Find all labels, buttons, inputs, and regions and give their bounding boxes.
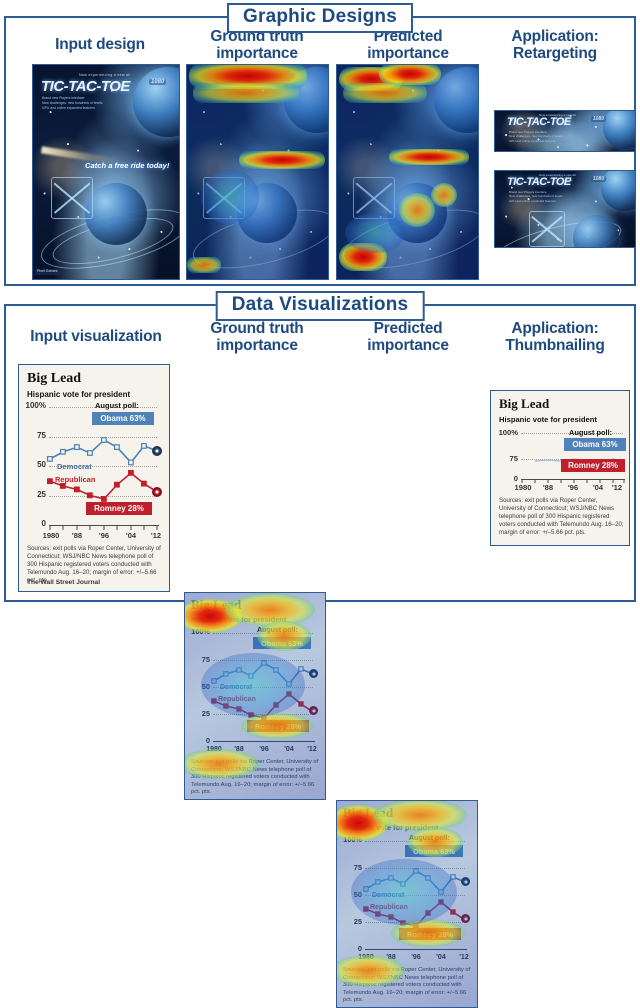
series-points-democrat [364, 869, 455, 894]
august-poll-label: August poll: [569, 428, 612, 437]
predicted-importance-map-design[interactable] [336, 64, 479, 280]
series-label-republican: Republican [218, 696, 256, 703]
series-label-democrat: Democrat [372, 892, 404, 899]
series-line-democrat [366, 871, 465, 892]
column-header-ground-truth-importance: Ground truth importance [182, 320, 332, 355]
banner-title: TIC-TAC-TOE [507, 176, 571, 188]
banner-bullet-3: GPU and online expanded features [509, 139, 563, 143]
obama-endpoint-marker [309, 669, 318, 678]
romney-callout: Romney 28% [247, 720, 309, 732]
ticks-group [50, 525, 157, 530]
romney-callout: Romney 28% [561, 459, 625, 472]
planet-foreground [85, 183, 147, 245]
august-poll-label: August poll: [409, 835, 450, 842]
chart-sources: Sources: exit polls via Roper Center, Un… [499, 497, 625, 537]
ground-truth-importance-map-design[interactable] [186, 64, 329, 280]
series-label-democrat: Democrat [220, 684, 252, 691]
column-header-line2: Retargeting [476, 45, 634, 62]
series-line-democrat [214, 663, 313, 684]
banner-bullets: Brand new Players interface New challeng… [509, 190, 563, 203]
section-title-data-visualizations: Data Visualizations [216, 291, 425, 321]
section-data-visualizations: Data Visualizations Input visualization … [4, 304, 636, 602]
retargeting-banner-wide[interactable]: Now experiencing a new all TIC-TAC-TOE 1… [494, 110, 636, 152]
chart-sources: Sources: exit polls via Roper Center, Un… [343, 967, 473, 1005]
banner-badge: 1080 [591, 176, 606, 182]
column-header-line2: importance [182, 45, 332, 62]
column-header-line2: importance [334, 45, 482, 62]
ground-truth-importance-map-chart[interactable]: Big Lead Hispanic vote for president 100… [184, 592, 326, 800]
x-tick-96: '96 [251, 746, 277, 753]
x-tick-96: '96 [90, 531, 118, 540]
obama-endpoint-marker [461, 877, 470, 886]
obama-callout: Obama 63% [405, 845, 463, 857]
input-design-poster[interactable]: Now experiencing a new all TIC-TAC-TOE 1… [32, 64, 180, 280]
column-header-line1: Ground truth [182, 320, 332, 337]
x-tick-88: '88 [535, 483, 561, 492]
poster-title: TIC-TAC-TOE [41, 78, 130, 95]
column-header-line1: Application: [476, 28, 634, 45]
banner-badge: 1080 [591, 116, 606, 122]
x-tick-88: '88 [63, 531, 91, 540]
x-tick-12: '12 [299, 746, 325, 753]
column-header-predicted-importance: Predicted importance [334, 28, 482, 63]
tic-tac-toe-x-icon [203, 177, 245, 219]
romney-callout: Romney 28% [86, 502, 152, 515]
column-header-line1: Application: [474, 320, 636, 337]
poster-bullets: Brand new Players interface New challeng… [42, 96, 103, 111]
column-header-line1: Predicted [334, 320, 482, 337]
romney-endpoint-marker [309, 706, 318, 715]
column-header-input-design: Input design [20, 36, 180, 53]
series-label-republican: Republican [370, 904, 408, 911]
column-header-application-thumbnailing: Application: Thumbnailing [474, 320, 636, 355]
obama-callout: Obama 63% [564, 438, 626, 451]
column-header-input-visualization: Input visualization [10, 328, 182, 345]
poster-bullet-3: GPU and online expanded features [42, 106, 103, 111]
banner-bullets: Brand new Players interface New challeng… [509, 130, 563, 143]
planet-foreground [387, 183, 447, 243]
tic-tac-toe-x-icon [51, 177, 93, 219]
august-poll-label: August poll: [95, 401, 139, 410]
obama-endpoint-marker [152, 446, 162, 456]
poster-badge: 1080 [149, 79, 166, 85]
predicted-importance-map-chart[interactable]: Big Lead Hispanic vote for president 100… [336, 800, 478, 1008]
column-header-line2: importance [182, 337, 332, 354]
input-visualization-chart[interactable]: Big Lead Hispanic vote for president 100… [18, 364, 170, 592]
x-tick-04: '04 [117, 531, 145, 540]
column-header-line2: importance [334, 337, 482, 354]
chart-sources: Sources: exit polls via Roper Center, Un… [191, 759, 321, 797]
august-poll-label: August poll: [257, 627, 298, 634]
section-title-graphic-designs: Graphic Designs [227, 3, 413, 33]
column-header-ground-truth-importance: Ground truth importance [182, 28, 332, 63]
poster-kicker: Now experiencing a new all [79, 73, 131, 77]
series-line-democrat [50, 440, 157, 462]
banner-bullet-3: GPU and online expanded features [509, 199, 563, 203]
column-header-application-retargeting: Application: Retargeting [476, 28, 634, 63]
series-label-democrat: Democrat [57, 462, 92, 471]
x-tick-1980: 1980 [351, 954, 381, 961]
obama-callout: Obama 63% [92, 412, 154, 425]
series-points-democrat [48, 438, 147, 465]
x-tick-96: '96 [403, 954, 429, 961]
x-tick-88: '88 [226, 746, 252, 753]
column-header-predicted-importance: Predicted importance [334, 320, 482, 355]
x-tick-96: '96 [560, 483, 586, 492]
x-tick-12: '12 [605, 483, 629, 492]
x-tick-12: '12 [143, 531, 169, 540]
poster-cta[interactable]: Catch a free ride today! [85, 161, 169, 170]
chart-publisher: The Wall Street Journal [27, 579, 100, 586]
series-label-republican: Republican [55, 475, 95, 484]
retargeting-banner-tall[interactable]: Now experiencing a new all TIC-TAC-TOE 1… [494, 170, 636, 248]
banner-title: TIC-TAC-TOE [507, 116, 571, 128]
series-points-democrat [212, 661, 303, 686]
x-tick-88: '88 [378, 954, 404, 961]
x-tick-1980: 1980 [199, 746, 229, 753]
poster-logo: Pixel Games [35, 269, 59, 275]
tic-tac-toe-x-icon [529, 211, 565, 247]
planet-foreground [237, 183, 297, 243]
romney-callout: Romney 28% [399, 928, 461, 940]
romney-endpoint-marker [152, 487, 162, 497]
romney-endpoint-marker [461, 914, 470, 923]
x-tick-12: '12 [451, 954, 477, 961]
section-graphic-designs: Graphic Designs Input design Ground trut… [4, 16, 636, 286]
tic-tac-toe-x-icon [353, 177, 395, 219]
column-header-line2: Thumbnailing [474, 337, 636, 354]
thumbnail-chart[interactable]: Big Lead Hispanic vote for president 100… [490, 390, 630, 546]
obama-callout: Obama 63% [253, 637, 311, 649]
